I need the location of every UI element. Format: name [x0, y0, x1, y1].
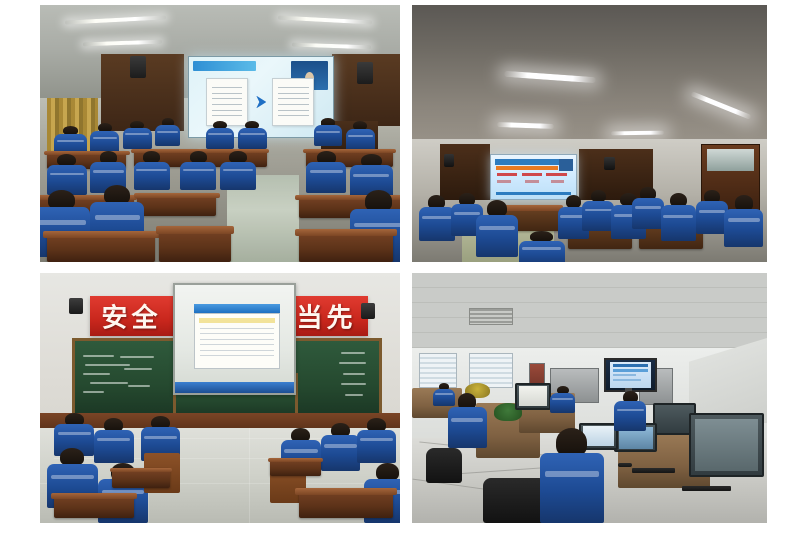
training-hall-scene	[412, 5, 767, 262]
application-window	[194, 313, 280, 369]
slide-header-bar	[193, 61, 256, 71]
wood-wall-panel	[440, 144, 490, 201]
worker	[540, 428, 604, 523]
banner-left-text: 安全	[101, 297, 161, 334]
attendee	[238, 121, 267, 149]
banner-right-text: 当先	[297, 297, 357, 334]
attendee	[94, 418, 134, 463]
auditorium-scene	[40, 5, 400, 262]
office-chair	[483, 478, 547, 523]
attendee	[724, 195, 763, 246]
wood-wall-panel	[371, 54, 400, 126]
attendee	[220, 151, 256, 190]
slide-accent-bar	[496, 166, 557, 170]
keyboard[interactable]	[682, 486, 732, 491]
desk	[47, 231, 155, 262]
desk	[270, 458, 320, 476]
wall-speaker	[361, 303, 375, 319]
slide-document-right	[272, 78, 314, 126]
attendee	[47, 154, 87, 195]
attendee	[206, 121, 235, 149]
wall-speaker	[69, 298, 83, 314]
attendee	[476, 200, 519, 257]
slide-highlight	[522, 173, 542, 176]
office-scene	[412, 273, 767, 523]
desk	[54, 493, 133, 518]
attendee	[696, 190, 728, 234]
desk	[112, 468, 170, 488]
worker	[550, 386, 575, 414]
photo-bottom-right[interactable]: Open-plan office control room with worke…	[412, 273, 767, 523]
attendee	[519, 231, 565, 262]
slide-highlight	[546, 173, 566, 176]
desk	[299, 229, 393, 262]
attendee	[357, 418, 397, 463]
slide-document-left	[206, 78, 248, 126]
wall-speaker	[357, 62, 373, 84]
desk	[159, 226, 231, 262]
slide-highlight	[497, 173, 517, 176]
attendee	[346, 121, 375, 152]
projection-screen	[173, 283, 296, 395]
display-content	[610, 362, 652, 387]
slide-highlight	[551, 180, 565, 183]
attendee	[314, 118, 343, 146]
keyboard[interactable]	[632, 468, 675, 473]
attendee	[321, 423, 361, 471]
office-chair	[426, 448, 462, 483]
taskbar	[175, 382, 294, 393]
attendee	[582, 190, 614, 231]
attendee	[90, 123, 119, 154]
desktop-monitor[interactable]	[689, 413, 764, 477]
mouse[interactable]	[618, 463, 632, 467]
attendee	[155, 118, 180, 146]
attendee	[306, 151, 346, 192]
attendee	[661, 193, 697, 242]
slide-video-thumbnail	[559, 159, 573, 171]
worker	[614, 391, 646, 431]
highlight-row	[199, 318, 276, 322]
air-vent	[469, 308, 514, 325]
classroom-scene: 安全 当先	[40, 273, 400, 523]
wall-speaker	[444, 154, 454, 167]
slide-arrow-icon	[256, 96, 266, 109]
blackboard-right	[286, 338, 382, 419]
slide-highlight	[497, 180, 511, 183]
wall-display	[604, 358, 658, 392]
attendee	[419, 195, 455, 241]
photo-top-right[interactable]: Dark training hall with wide ceiling and…	[412, 5, 767, 262]
worker	[433, 383, 454, 406]
photo-top-left[interactable]: Workers in blue uniforms seated in a lec…	[40, 5, 400, 262]
window-title-bar	[194, 304, 280, 313]
attendee	[632, 187, 664, 228]
desk	[299, 488, 393, 518]
photo-bottom-left[interactable]: 安全 当先	[40, 273, 400, 523]
slide-highlight	[525, 180, 539, 183]
attendee	[180, 151, 216, 190]
collage-page: Workers in blue uniforms seated in a lec…	[0, 0, 800, 534]
desk	[137, 193, 216, 216]
ceiling-light	[611, 130, 664, 135]
desktop-monitor[interactable]	[515, 383, 551, 410]
photo-grid: Workers in blue uniforms seated in a lec…	[40, 5, 767, 523]
wall-speaker	[604, 157, 615, 170]
attendee	[123, 121, 152, 149]
blackboard-left	[72, 338, 179, 419]
projector-screen	[490, 154, 577, 200]
wall-speaker	[130, 56, 146, 78]
